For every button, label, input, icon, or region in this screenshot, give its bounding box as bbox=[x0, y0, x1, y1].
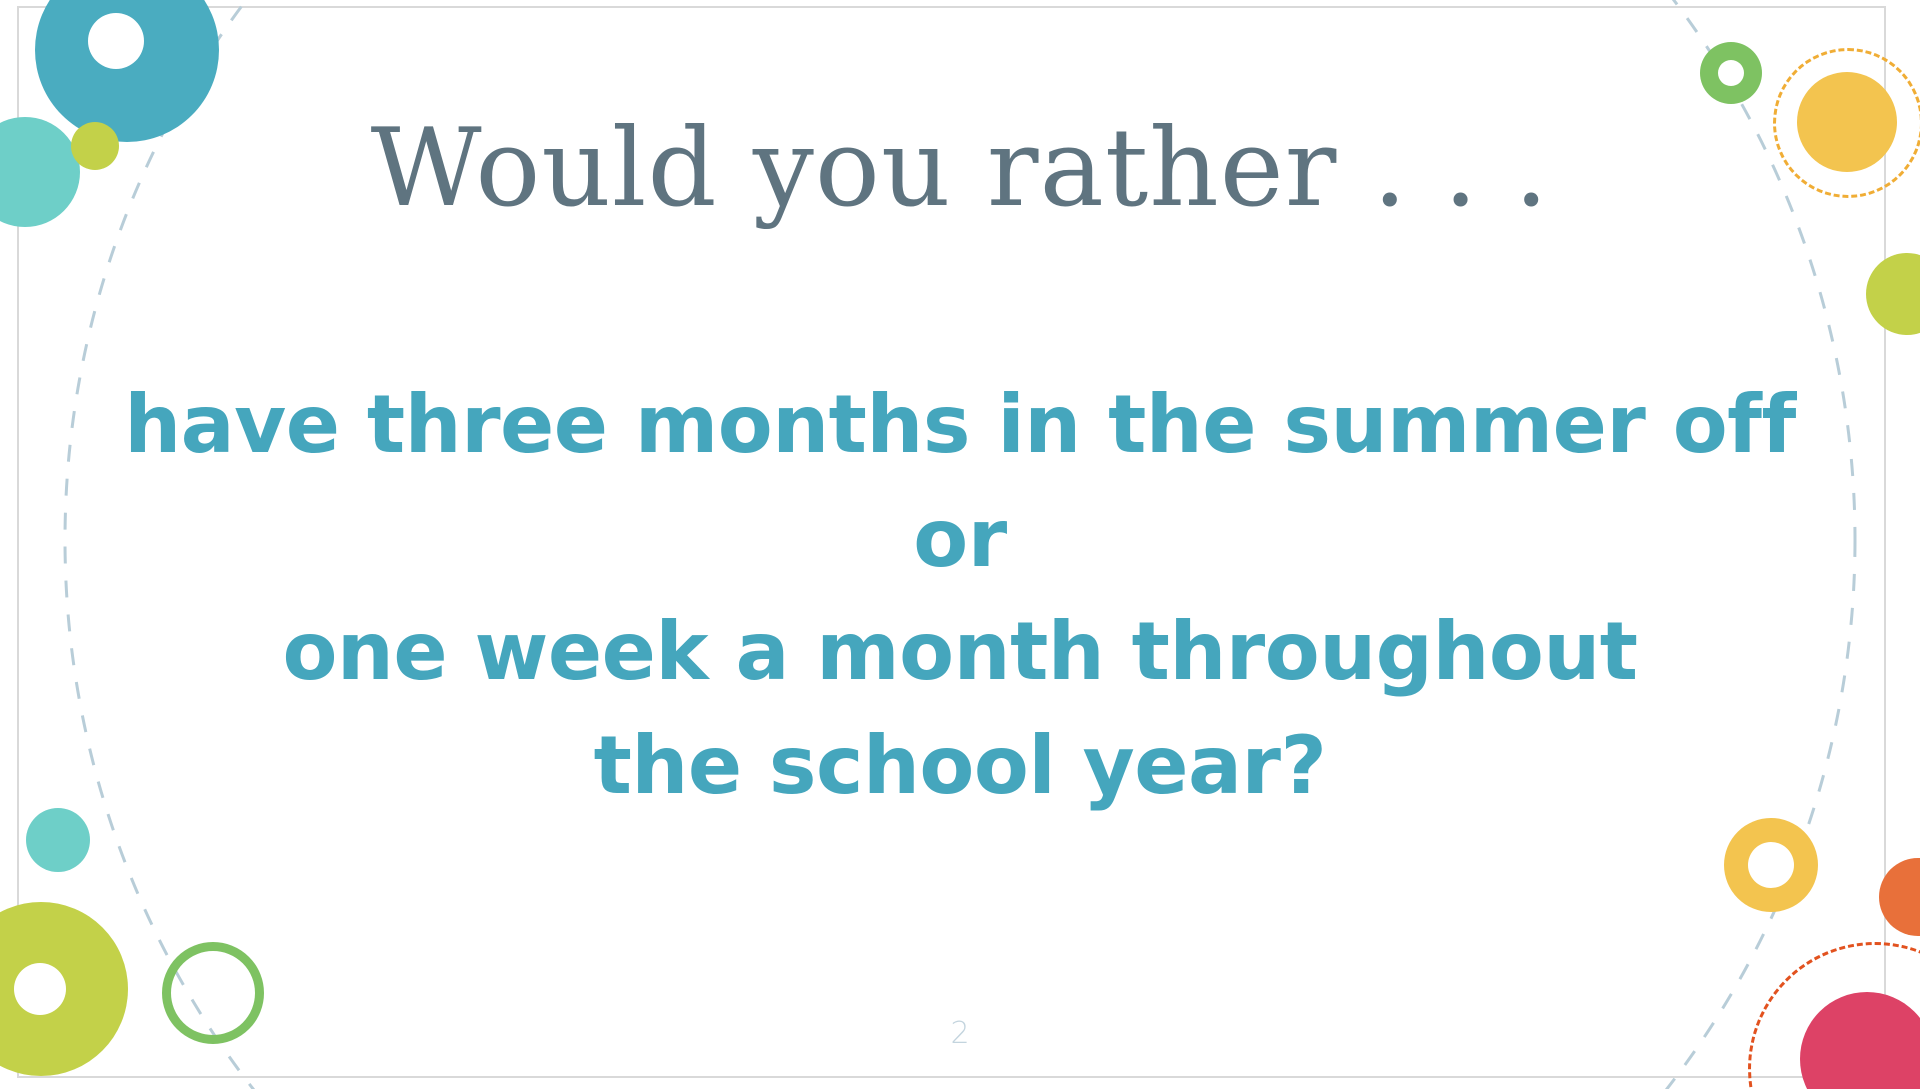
body-line-3: one week a month throughout bbox=[110, 595, 1810, 709]
slide-content: Would you rather . . . have three months… bbox=[0, 0, 1920, 1089]
page-number: 2 bbox=[0, 1016, 1920, 1051]
body-line-4: the school year? bbox=[110, 709, 1810, 823]
slide-body: have three months in the summer off or o… bbox=[110, 368, 1810, 822]
body-line-1: have three months in the summer off bbox=[110, 368, 1810, 482]
slide: Would you rather . . . have three months… bbox=[0, 0, 1920, 1089]
body-line-2: or bbox=[110, 482, 1810, 596]
slide-title: Would you rather . . . bbox=[0, 112, 1920, 225]
